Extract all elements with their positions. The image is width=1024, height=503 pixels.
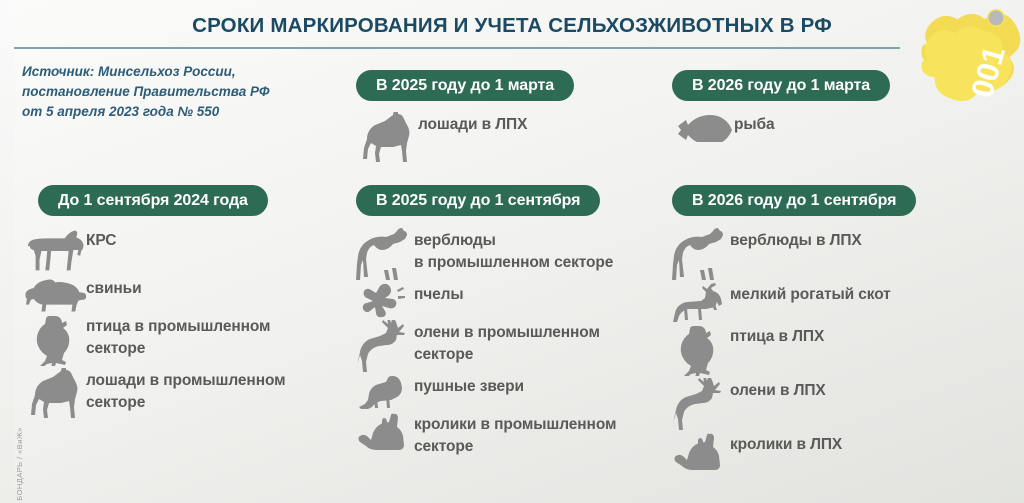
item-label: олени в ЛПХ [730,378,826,402]
pig-icon [24,276,86,312]
group-2026-september: верблюды в ЛПХмелкий рогатый скотптица в… [668,228,891,474]
deer-icon [352,320,414,372]
list-item: рыба [672,112,775,142]
goat-icon [668,282,730,322]
list-item: птица в промышленномсекторе [24,314,286,366]
chicken-icon [24,314,86,366]
list-item: олени в промышленномсекторе [352,320,616,372]
item-label: птица в ЛПХ [730,324,824,348]
camel-icon [668,228,730,280]
source-line-2: постановление Правительства РФ [22,82,322,102]
item-label: пчелы [414,282,464,306]
rabbit-icon [668,432,730,472]
pill-2026-september[interactable]: В 2026 году до 1 сентября [672,185,916,216]
rabbit-icon [352,412,414,452]
list-item: лошади в промышленномсекторе [24,368,286,420]
item-label: верблюдыв промышленном секторе [414,228,613,274]
list-item: КРС [24,228,286,274]
group-2025-march: лошади в ЛПХ [356,112,527,166]
item-label: свиньи [86,276,142,300]
marten-icon [352,374,414,410]
chicken-icon [668,324,730,376]
horse-icon [356,112,418,164]
item-label: кролики в ЛПХ [730,432,842,456]
list-item: кролики в ЛПХ [668,432,891,472]
ear-tag-icon: 001 [890,0,1024,144]
item-label: верблюды в ЛПХ [730,228,862,252]
item-label: мелкий рогатый скот [730,282,891,306]
deer-icon [668,378,730,430]
item-label: птица в промышленномсекторе [86,314,270,360]
source-note: Источник: Минсельхоз России, постановлен… [22,62,322,122]
item-label: КРС [86,228,116,252]
cow-icon [24,228,86,274]
horse-icon [24,368,86,420]
title-divider [14,47,900,49]
credit-strip: ЮЛИЯ МАКЕЕВА / МАРИЯ БОНДАРЬ / «ВиЖ» [0,0,14,503]
pill-2024-september[interactable]: До 1 сентября 2024 года [38,185,268,216]
bee-icon [352,282,414,318]
camel-icon [352,228,414,280]
item-label: лошади в ЛПХ [418,112,527,136]
item-label: рыба [734,112,775,136]
list-item: олени в ЛПХ [668,378,891,430]
pill-2025-september[interactable]: В 2025 году до 1 сентября [356,185,600,216]
fish-icon [672,112,734,142]
list-item: мелкий рогатый скот [668,282,891,322]
source-line-1: Источник: Минсельхоз России, [22,62,322,82]
list-item: пчелы [352,282,616,318]
item-label: пушные звери [414,374,524,398]
list-item: птица в ЛПХ [668,324,891,376]
group-2025-september: верблюдыв промышленном секторепчелыолени… [352,228,616,460]
page-title: СРОКИ МАРКИРОВАНИЯ И УЧЕТА СЕЛЬХОЗЖИВОТН… [0,14,1024,38]
item-label: лошади в промышленномсекторе [86,368,286,414]
list-item: кролики в промышленномсекторе [352,412,616,458]
item-label: кролики в промышленномсекторе [414,412,616,458]
pill-2026-march[interactable]: В 2026 году до 1 марта [672,70,890,101]
list-item: верблюдыв промышленном секторе [352,228,616,280]
source-line-3: от 5 апреля 2023 года № 550 [22,102,322,122]
item-label: олени в промышленномсекторе [414,320,600,366]
list-item: свиньи [24,276,286,312]
list-item: пушные звери [352,374,616,410]
list-item: лошади в ЛПХ [356,112,527,164]
group-2024-september: КРСсвиньиптица в промышленномсекторелоша… [24,228,286,422]
group-2026-march: рыба [672,112,775,144]
list-item: верблюды в ЛПХ [668,228,891,280]
pill-2025-march[interactable]: В 2025 году до 1 марта [356,70,574,101]
